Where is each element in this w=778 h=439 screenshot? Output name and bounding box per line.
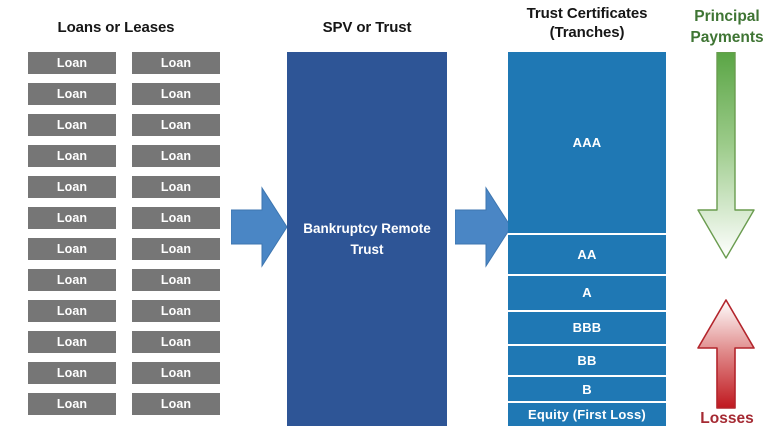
- loan-box: Loan: [132, 393, 220, 415]
- securitization-diagram: Loans or Leases LoanLoanLoanLoanLoanLoan…: [0, 0, 778, 439]
- tranche-equity-first-loss: Equity (First Loss): [508, 403, 666, 426]
- loan-box: Loan: [28, 114, 116, 136]
- loan-box: Loan: [132, 145, 220, 167]
- loan-box: Loan: [28, 331, 116, 353]
- losses-label: Losses: [676, 410, 778, 428]
- loan-box: Loan: [132, 114, 220, 136]
- tranche-bb: BB: [508, 346, 666, 377]
- flow-arrow-pool-to-spv-icon: [231, 186, 287, 268]
- loan-box: Loan: [28, 300, 116, 322]
- principal-payments-arrow-icon: [694, 52, 758, 282]
- loan-box: Loan: [132, 83, 220, 105]
- loan-box: Loan: [132, 362, 220, 384]
- loan-box: Loan: [28, 52, 116, 74]
- principal-label-line1: Principal: [694, 8, 759, 25]
- loan-box: Loan: [28, 145, 116, 167]
- loan-box: Loan: [28, 393, 116, 415]
- spv-box-label: Bankruptcy Remote Trust: [293, 218, 441, 260]
- spv-title: SPV or Trust: [287, 18, 447, 37]
- loan-column-left: LoanLoanLoanLoanLoanLoanLoanLoanLoanLoan…: [28, 52, 116, 424]
- loan-box: Loan: [28, 362, 116, 384]
- spv-box-label-line2: Trust: [350, 242, 383, 257]
- tranche-title-line2: (Tranches): [550, 24, 625, 41]
- spv-box-label-line1: Bankruptcy Remote: [303, 221, 431, 236]
- loan-box: Loan: [132, 176, 220, 198]
- tranche-aaa: AAA: [508, 52, 666, 235]
- losses-arrow-icon: [694, 298, 758, 410]
- tranche-stack-title: Trust Certificates (Tranches): [508, 4, 666, 42]
- tranche-aa: AA: [508, 235, 666, 276]
- loan-box: Loan: [28, 269, 116, 291]
- loan-box: Loan: [28, 207, 116, 229]
- tranche-bbb: BBB: [508, 312, 666, 346]
- loan-column-right: LoanLoanLoanLoanLoanLoanLoanLoanLoanLoan…: [132, 52, 220, 424]
- principal-label-line2: Payments: [690, 29, 763, 46]
- loan-box: Loan: [132, 52, 220, 74]
- loan-box: Loan: [28, 83, 116, 105]
- tranche-a: A: [508, 276, 666, 312]
- loan-box: Loan: [132, 207, 220, 229]
- loan-box: Loan: [28, 176, 116, 198]
- principal-payments-label: Principal Payments: [676, 6, 778, 48]
- tranche-b: B: [508, 377, 666, 403]
- spv-trust-box: Bankruptcy Remote Trust: [287, 52, 447, 426]
- loan-box: Loan: [132, 300, 220, 322]
- flow-arrow-spv-to-tranches-icon: [455, 186, 511, 268]
- loan-box: Loan: [132, 331, 220, 353]
- tranche-stack: AAAAAABBBBBBEquity (First Loss): [508, 52, 666, 426]
- loan-box: Loan: [132, 238, 220, 260]
- loan-box: Loan: [132, 269, 220, 291]
- tranche-title-line1: Trust Certificates: [527, 5, 648, 22]
- loan-pool-title: Loans or Leases: [0, 18, 232, 37]
- loan-pool-section: Loans or Leases LoanLoanLoanLoanLoanLoan…: [0, 0, 232, 439]
- loan-box: Loan: [28, 238, 116, 260]
